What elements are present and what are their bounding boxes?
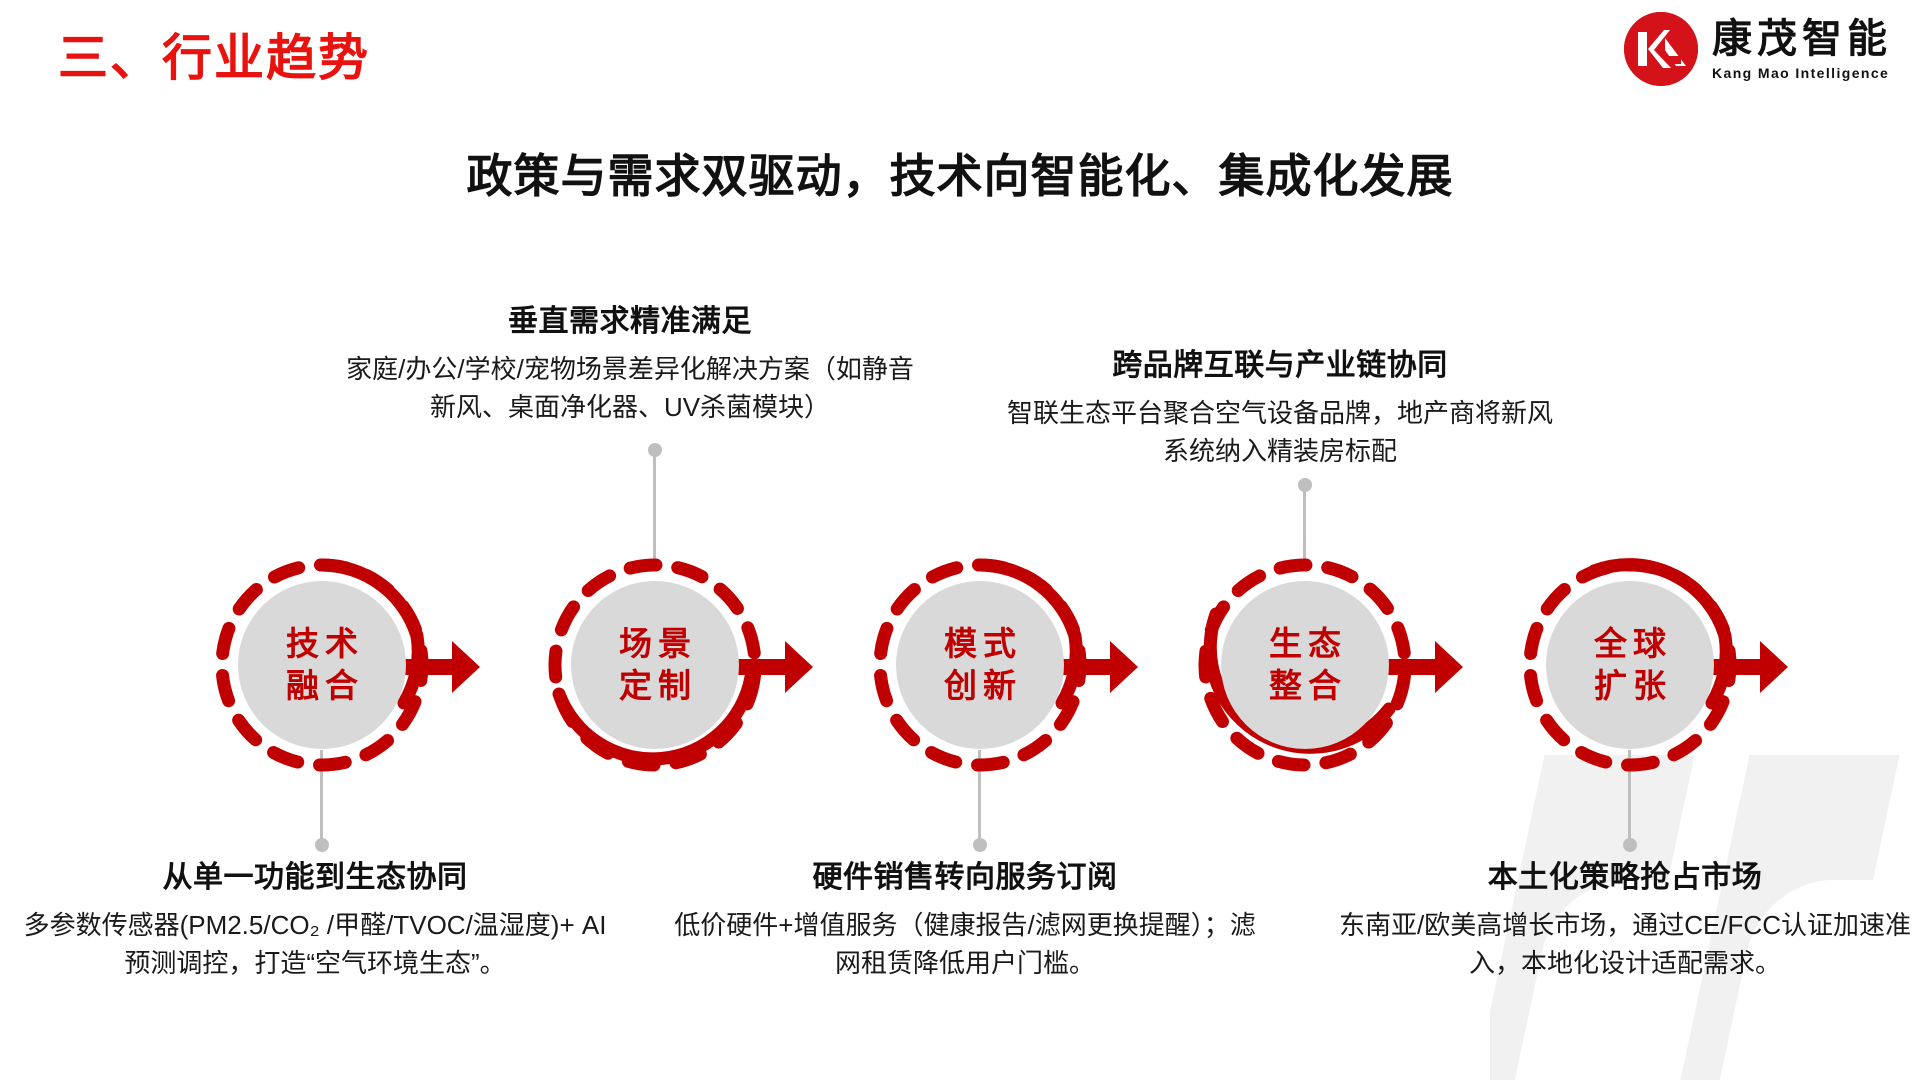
- flow-node-label: 全球 扩张: [1546, 581, 1714, 749]
- flow-node-line2: 融合: [280, 665, 364, 707]
- flow-node-line2: 定制: [613, 665, 697, 707]
- brand-logo: 康茂智能 Kang Mao Intelligence: [1624, 12, 1892, 86]
- flow-node-line2: 整合: [1263, 665, 1347, 707]
- callout-vertical-demand: 垂直需求精准满足 家庭/办公/学校/宠物场景差异化解决方案（如静音新风、桌面净化…: [340, 296, 920, 427]
- callout-single-to-eco: 从单一功能到生态协同 多参数传感器(PM2.5/CO₂ /甲醛/TVOC/温湿度…: [20, 852, 610, 983]
- flow-node-line2: 扩张: [1588, 665, 1672, 707]
- flow-node-line1: 技术: [280, 623, 364, 665]
- flow-node-line1: 全球: [1588, 623, 1672, 665]
- slide-main-heading: 政策与需求双驱动，技术向智能化、集成化发展: [0, 140, 1920, 206]
- callout-hardware-to-service: 硬件销售转向服务订阅 低价硬件+增值服务（健康报告/滤网更换提醒）；滤网租赁降低…: [670, 852, 1260, 983]
- logo-mark-icon: [1624, 12, 1698, 86]
- callout-title: 跨品牌互联与产业链协同: [1000, 340, 1560, 384]
- logo-name-cn: 康茂智能: [1712, 19, 1892, 59]
- callout-title: 从单一功能到生态协同: [20, 852, 610, 896]
- flow-node-label: 生态 整合: [1221, 581, 1389, 749]
- flow-node-label: 场景 定制: [571, 581, 739, 749]
- flow-node-label: 模式 创新: [896, 581, 1064, 749]
- callout-body: 东南亚/欧美高增长市场，通过CE/FCC认证加速准入，本地化设计适配需求。: [1330, 906, 1920, 983]
- callout-localization: 本土化策略抢占市场 东南亚/欧美高增长市场，通过CE/FCC认证加速准入，本地化…: [1330, 852, 1920, 983]
- flow-node-line2: 创新: [938, 665, 1022, 707]
- flow-node-line1: 场景: [613, 623, 697, 665]
- flow-node-2[interactable]: 场景 定制: [555, 565, 755, 765]
- callout-title: 垂直需求精准满足: [340, 296, 920, 340]
- callout-body: 智联生态平台聚合空气设备品牌，地产商将新风系统纳入精装房标配: [1000, 394, 1560, 471]
- callout-cross-brand: 跨品牌互联与产业链协同 智联生态平台聚合空气设备品牌，地产商将新风系统纳入精装房…: [1000, 340, 1560, 471]
- callout-body: 家庭/办公/学校/宠物场景差异化解决方案（如静音新风、桌面净化器、UV杀菌模块）: [340, 350, 920, 427]
- flow-node-1[interactable]: 技术 融合: [222, 565, 422, 765]
- callout-title: 本土化策略抢占市场: [1330, 852, 1920, 896]
- logo-name-en: Kang Mao Intelligence: [1712, 66, 1892, 80]
- callout-body: 低价硬件+增值服务（健康报告/滤网更换提醒）；滤网租赁降低用户门槛。: [670, 906, 1260, 983]
- page-section-title: 三、行业趋势: [58, 18, 370, 90]
- flow-node-line1: 生态: [1263, 623, 1347, 665]
- callout-title: 硬件销售转向服务订阅: [670, 852, 1260, 896]
- process-flow: 技术 融合 场景 定制 模式 创新: [0, 545, 1920, 795]
- flow-node-4[interactable]: 生态 整合: [1205, 565, 1405, 765]
- flow-node-3[interactable]: 模式 创新: [880, 565, 1080, 765]
- callout-body: 多参数传感器(PM2.5/CO₂ /甲醛/TVOC/温湿度)+ AI预测调控，打…: [20, 906, 610, 983]
- flow-node-5[interactable]: 全球 扩张: [1530, 565, 1730, 765]
- connector-node2-up: [653, 450, 656, 560]
- flow-node-label: 技术 融合: [238, 581, 406, 749]
- flow-node-line1: 模式: [938, 623, 1022, 665]
